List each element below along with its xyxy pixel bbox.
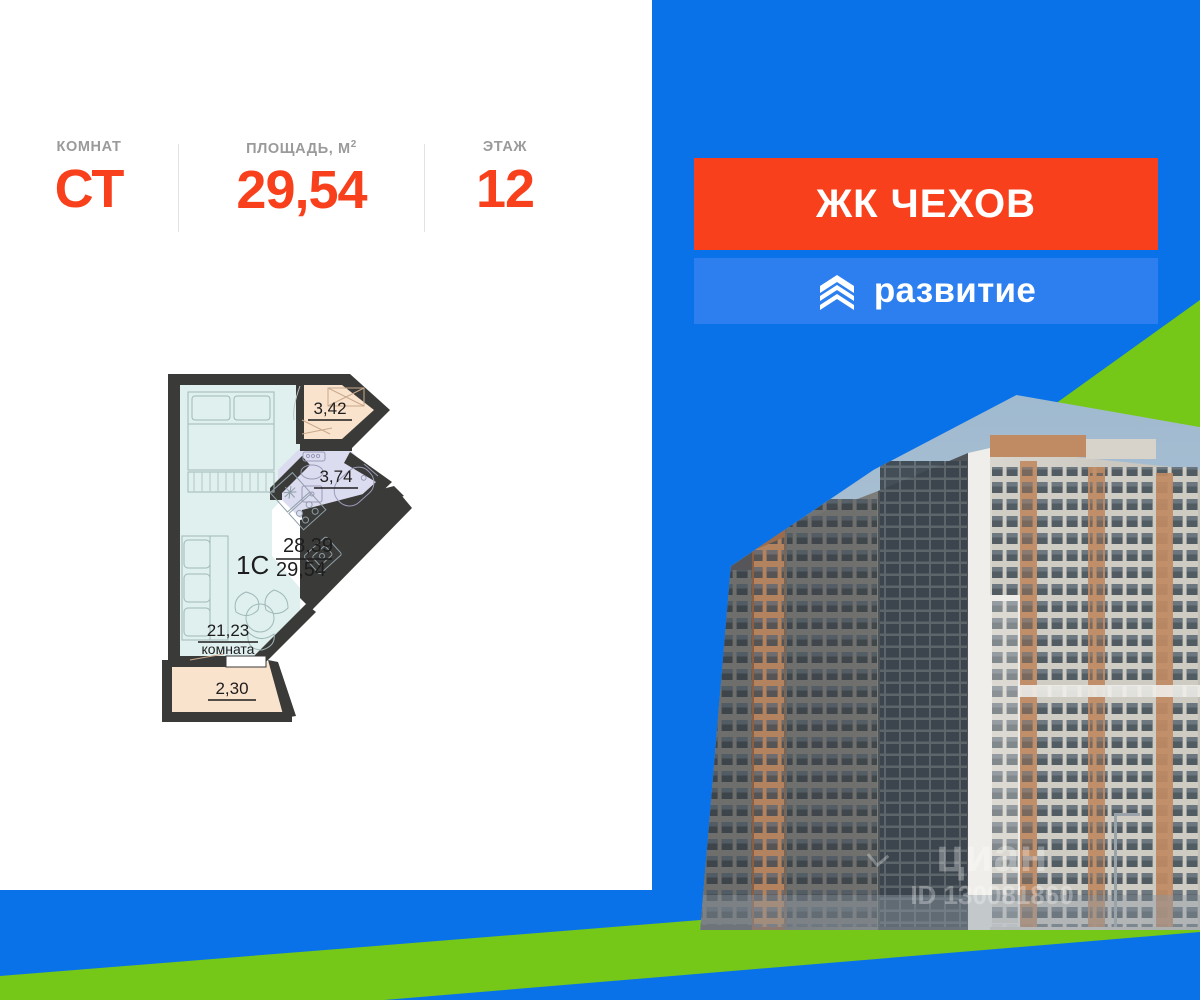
apartment-type: 1С <box>236 550 269 580</box>
floorplan-svg: 3,42 3,74 1С 28,39 29,54 21,23 комната <box>150 360 510 760</box>
green-band-bottom <box>0 930 700 1000</box>
stat-rooms-value: СТ <box>0 161 178 218</box>
branding-block: ЖК ЧЕХОВ развитие <box>694 158 1158 324</box>
apartment-stats-bar: КОМНАТ СТ ПЛОЩАДЬ, М2 29,54 ЭТАЖ 12 <box>0 140 652 250</box>
building-photo <box>690 395 1200 930</box>
stat-area: ПЛОЩАДЬ, М2 29,54 <box>179 140 424 219</box>
chevron-logo-icon <box>816 270 858 312</box>
room-main-label: комната <box>202 641 255 657</box>
stat-floor: ЭТАЖ 12 <box>425 140 585 217</box>
stat-rooms-label: КОМНАТ <box>0 140 178 155</box>
stat-rooms: КОМНАТ СТ <box>0 140 178 217</box>
room-balcony-area: 2,30 <box>215 679 248 698</box>
stat-floor-value: 12 <box>425 161 585 218</box>
developer-band: развитие <box>694 258 1158 324</box>
stat-area-label: ПЛОЩАДЬ, М2 <box>179 140 424 156</box>
stat-area-label-text: ПЛОЩАДЬ, М <box>246 141 351 157</box>
floorplan-drawing: 3,42 3,74 1С 28,39 29,54 21,23 комната <box>150 360 510 760</box>
room-bath-area: 3,74 <box>319 467 352 486</box>
area-living: 28,39 <box>283 535 333 557</box>
floorplan-card: КОМНАТ СТ ПЛОЩАДЬ, М2 29,54 ЭТАЖ 12 <box>0 0 652 890</box>
stat-area-label-superscript: 2 <box>351 139 357 150</box>
developer-name: развитие <box>874 271 1036 311</box>
building-illustration <box>690 395 1200 930</box>
stat-area-value: 29,54 <box>179 162 424 219</box>
complex-name: ЖК ЧЕХОВ <box>816 182 1036 227</box>
stat-floor-label: ЭТАЖ <box>425 140 585 155</box>
complex-name-badge: ЖК ЧЕХОВ <box>694 158 1158 250</box>
area-total: 29,54 <box>276 559 326 581</box>
room-hall-area: 3,42 <box>313 399 346 418</box>
room-main-area: 21,23 <box>207 621 250 640</box>
